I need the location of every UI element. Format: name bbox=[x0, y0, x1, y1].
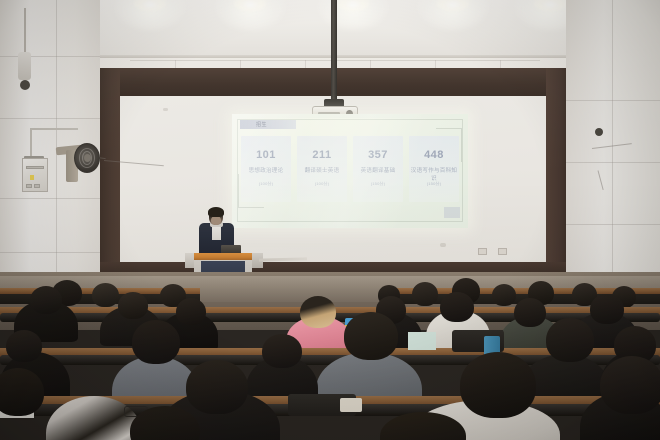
panel-switch bbox=[26, 184, 32, 188]
wall-outlet bbox=[478, 248, 487, 255]
audience-head bbox=[344, 312, 398, 360]
card-title: 汉语写作与百科知识 bbox=[409, 166, 459, 182]
slide-cards: 101 思想政治理论 (100分) 211 翻译硕士英语 (100分) 357 … bbox=[241, 136, 459, 202]
card-subtitle: (150分) bbox=[409, 181, 459, 187]
card-subtitle: (150分) bbox=[353, 181, 403, 187]
audience-head bbox=[118, 292, 148, 319]
right-pillar bbox=[566, 0, 660, 300]
audience-head-blonde bbox=[300, 296, 336, 328]
tile-seam bbox=[566, 162, 660, 163]
card-title: 英语翻译基础 bbox=[353, 166, 403, 174]
slide-header-bar bbox=[240, 120, 296, 129]
slide-card: 357 英语翻译基础 (150分) bbox=[353, 136, 403, 202]
speaker-hair bbox=[208, 207, 224, 217]
audience-head bbox=[132, 320, 180, 364]
card-number: 101 bbox=[241, 149, 291, 161]
audience-head bbox=[440, 292, 474, 322]
slide-header-label: 招生 bbox=[256, 121, 267, 129]
slide-badge bbox=[444, 207, 460, 218]
audience-head bbox=[0, 368, 44, 416]
audience-head bbox=[176, 298, 206, 325]
wall-outlet bbox=[498, 248, 507, 255]
slide-corner-decoration bbox=[436, 128, 462, 162]
tile-seam bbox=[566, 100, 660, 101]
card-number: 211 bbox=[297, 149, 347, 161]
card-subtitle: (100分) bbox=[297, 181, 347, 187]
warning-sticker bbox=[30, 175, 34, 180]
wall-mark bbox=[163, 108, 168, 111]
tile-seam bbox=[612, 0, 613, 300]
audience-head bbox=[412, 282, 438, 306]
card-title: 思想政治理论 bbox=[241, 166, 291, 174]
podium-worktop bbox=[194, 253, 252, 260]
audience-head bbox=[92, 283, 119, 307]
card-number: 357 bbox=[353, 149, 403, 161]
audience-head bbox=[6, 330, 42, 362]
audience-head bbox=[514, 298, 546, 327]
speaker-face bbox=[211, 216, 221, 225]
audience-head bbox=[600, 356, 660, 414]
wall-mark bbox=[440, 243, 446, 247]
ceiling-speaker-left bbox=[20, 80, 30, 90]
lecture-hall-photo: 招生 101 思想政治理论 (100分) 211 翻译硕士英语 (100分) 3… bbox=[0, 0, 660, 440]
audience-head bbox=[186, 360, 248, 414]
audience-head bbox=[30, 286, 62, 314]
audience-head bbox=[262, 334, 302, 368]
tile-seam bbox=[0, 56, 100, 57]
tile-seam bbox=[566, 224, 660, 225]
audience-head bbox=[590, 294, 624, 324]
tile-seam bbox=[0, 252, 100, 253]
audience-head bbox=[492, 284, 516, 306]
tile-seam bbox=[0, 198, 100, 199]
conduit bbox=[30, 128, 78, 130]
paper-sheet bbox=[340, 398, 362, 412]
slide-card: 211 翻译硕士英语 (100分) bbox=[297, 136, 347, 202]
panel-slot bbox=[26, 166, 44, 169]
hanging-fixture bbox=[18, 52, 31, 80]
projector-pole bbox=[331, 0, 337, 102]
ceiling-speaker-right bbox=[595, 128, 603, 136]
notebook bbox=[408, 332, 436, 350]
fan-hub bbox=[84, 154, 91, 162]
card-title: 翻译硕士英语 bbox=[297, 166, 347, 174]
audience-head bbox=[546, 318, 594, 362]
panel-switch bbox=[34, 184, 40, 188]
brown-column-left bbox=[98, 68, 120, 268]
slide-corner-decoration bbox=[238, 174, 264, 208]
hanging-cable bbox=[24, 8, 26, 56]
audience-head bbox=[460, 352, 536, 418]
conduit bbox=[30, 128, 32, 158]
brown-column-right bbox=[546, 68, 568, 268]
projection-screen: 招生 101 思想政治理论 (100分) 211 翻译硕士英语 (100分) 3… bbox=[232, 114, 468, 228]
tile-seam bbox=[0, 118, 100, 119]
